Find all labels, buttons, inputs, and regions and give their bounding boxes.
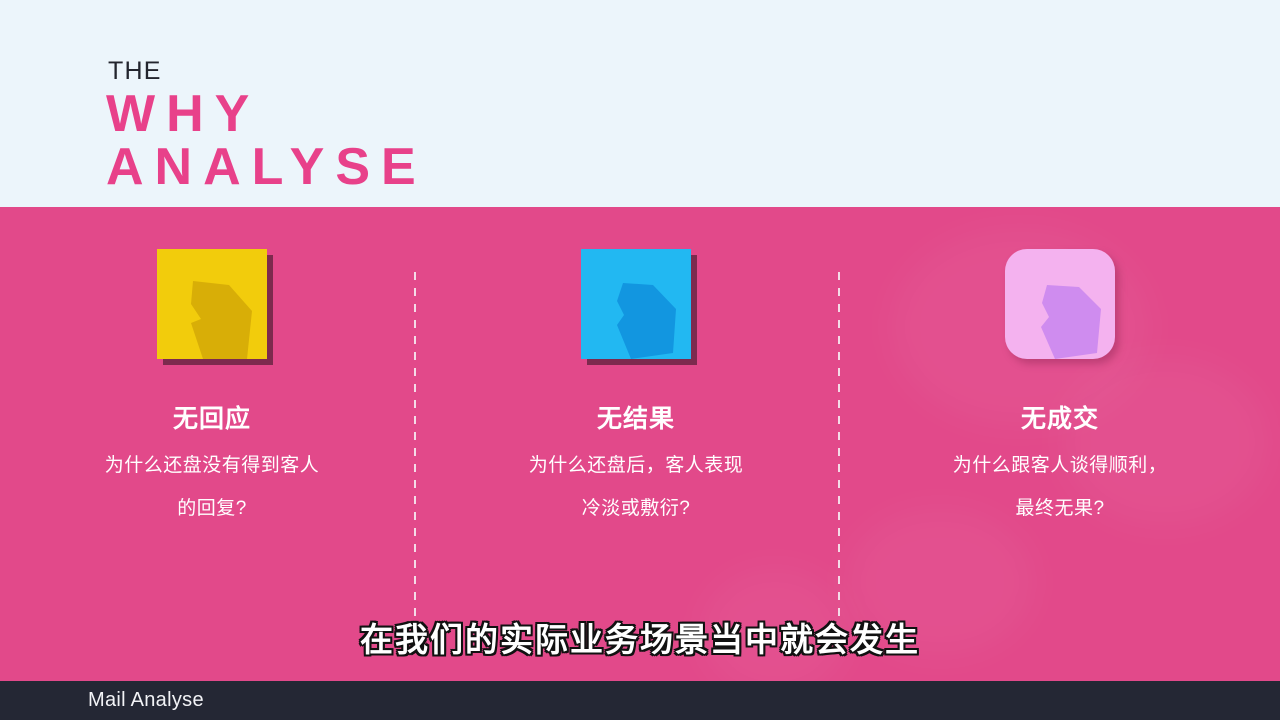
footer-label: Mail Analyse [88,689,204,712]
card-body: 为什么还盘后，客人表现 冷淡或敷衍? [424,444,848,530]
header-title-line-1: WHY [106,89,427,140]
card-body-line-1: 为什么跟客人谈得顺利， [848,444,1272,487]
purple-rounded-square-icon [1005,249,1115,359]
icon-polygon-glyph [157,249,267,359]
content-panel: 无回应 为什么还盘没有得到客人 的回复? 无结果 [0,207,1280,681]
card-body: 为什么还盘没有得到客人 的回复? [0,444,424,530]
blue-square-icon [581,249,691,359]
card-title: 无结果 [424,403,848,435]
card-body-line-1: 为什么还盘后，客人表现 [424,444,848,487]
icon-polygon-glyph [581,249,691,359]
header-title-group: THE WHY ANALYSE [106,56,427,193]
card-icon-wrap [1005,249,1115,359]
card-icon-wrap [157,249,267,359]
card-item: 无成交 为什么跟客人谈得顺利， 最终无果? [848,249,1272,530]
card-title: 无成交 [848,403,1272,435]
footer-bar: Mail Analyse [0,681,1280,720]
card-body: 为什么跟客人谈得顺利， 最终无果? [848,444,1272,530]
slide-root: THE WHY ANALYSE 无回应 [0,0,1280,720]
header-kicker: THE [108,56,427,86]
card-row: 无回应 为什么还盘没有得到客人 的回复? 无结果 [0,207,1280,681]
card-item: 无回应 为什么还盘没有得到客人 的回复? [0,249,424,530]
card-item: 无结果 为什么还盘后，客人表现 冷淡或敷衍? [424,249,848,530]
slide-header: THE WHY ANALYSE [0,0,1280,207]
card-title: 无回应 [0,403,424,435]
card-body-line-1: 为什么还盘没有得到客人 [0,444,424,487]
yellow-square-icon [157,249,267,359]
card-body-line-2: 最终无果? [848,487,1272,530]
card-icon-wrap [581,249,691,359]
icon-polygon-glyph [1005,249,1115,359]
card-body-line-2: 冷淡或敷衍? [424,487,848,530]
subtitle-caption: 在我们的实际业务场景当中就会发生 [0,618,1280,662]
card-body-line-2: 的回复? [0,487,424,530]
header-title-line-2: ANALYSE [106,142,427,193]
